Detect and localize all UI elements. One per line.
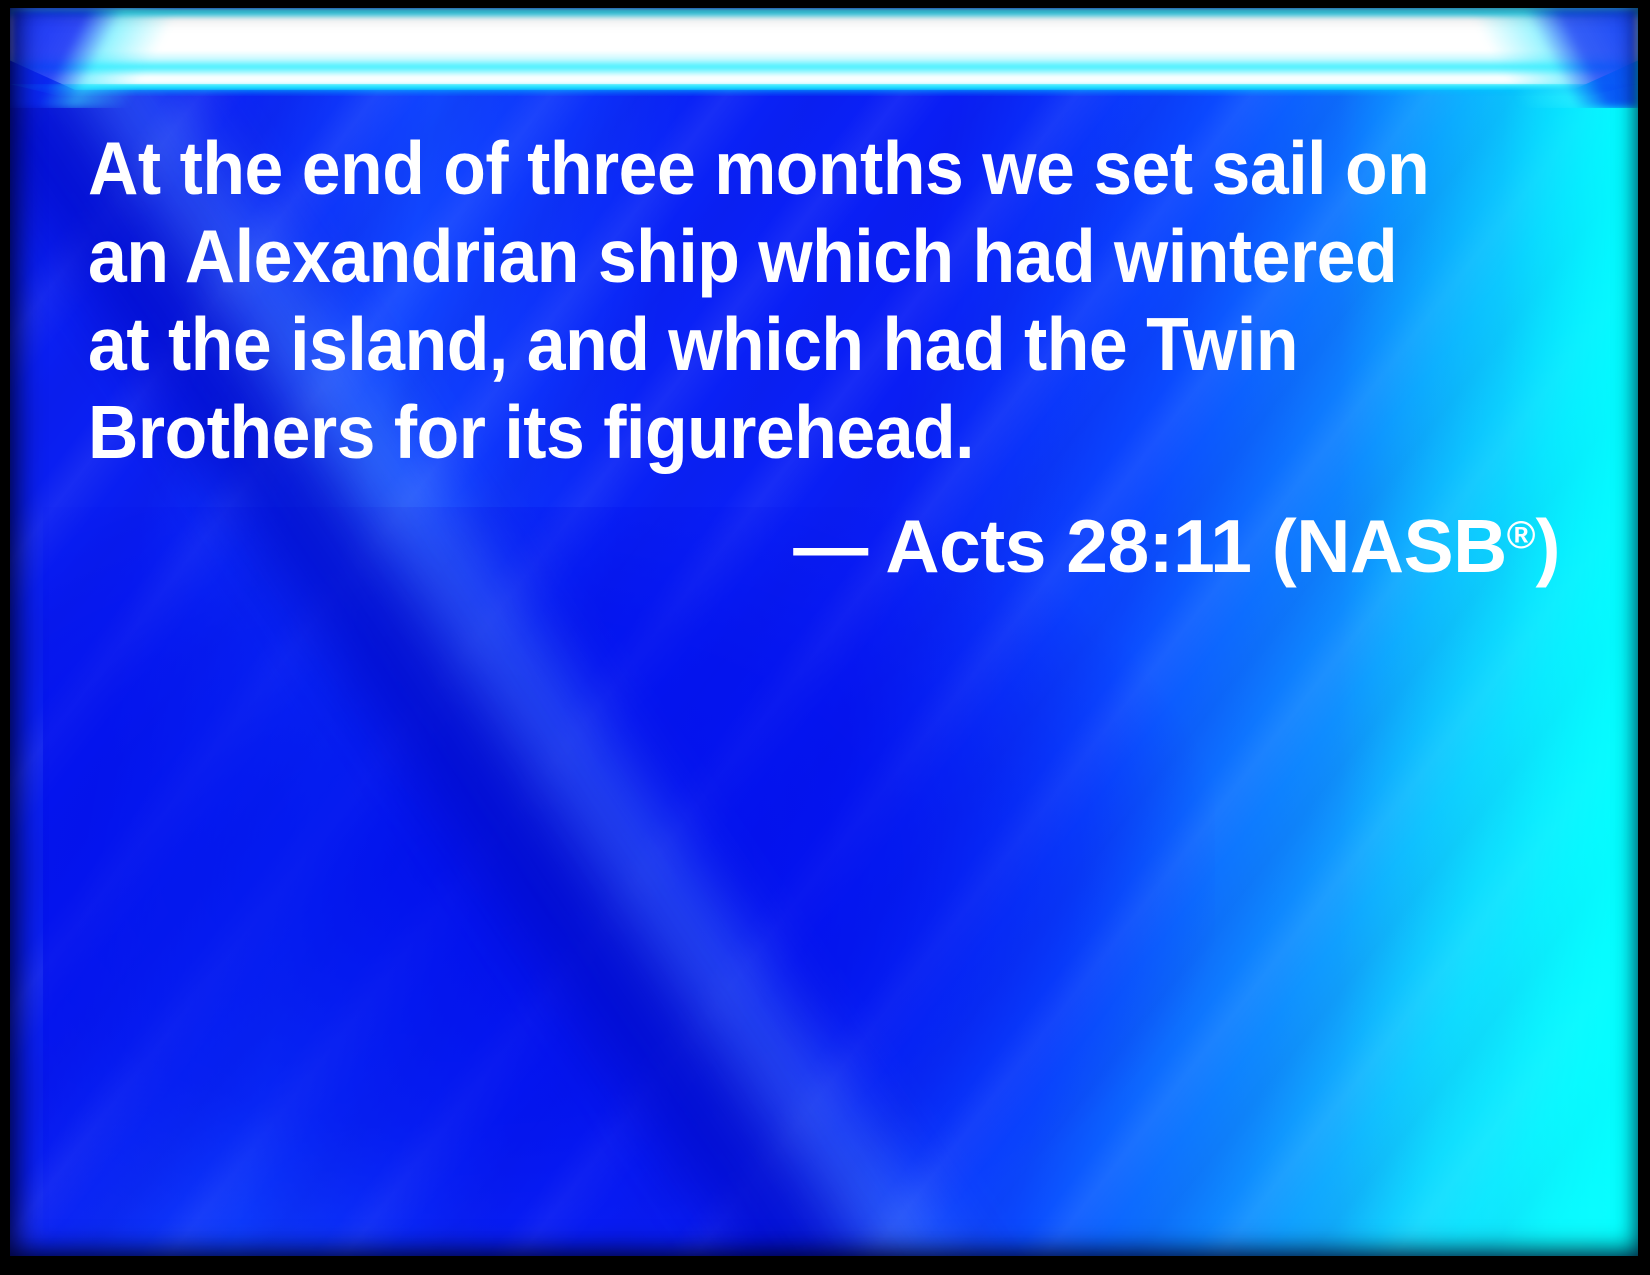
verse-citation: — Acts 28:11 (NASB®) xyxy=(88,492,1568,590)
citation-suffix: ) xyxy=(1536,504,1560,588)
verse-block: At the end of three months we set sail o… xyxy=(88,124,1568,590)
verse-text: At the end of three months we set sail o… xyxy=(88,124,1464,476)
citation-prefix: — Acts 28:11 (NASB xyxy=(793,504,1506,588)
slide-artboard: At the end of three months we set sail o… xyxy=(10,8,1638,1256)
registered-trademark-icon: ® xyxy=(1507,514,1536,557)
verse-slide: At the end of three months we set sail o… xyxy=(0,0,1650,1275)
